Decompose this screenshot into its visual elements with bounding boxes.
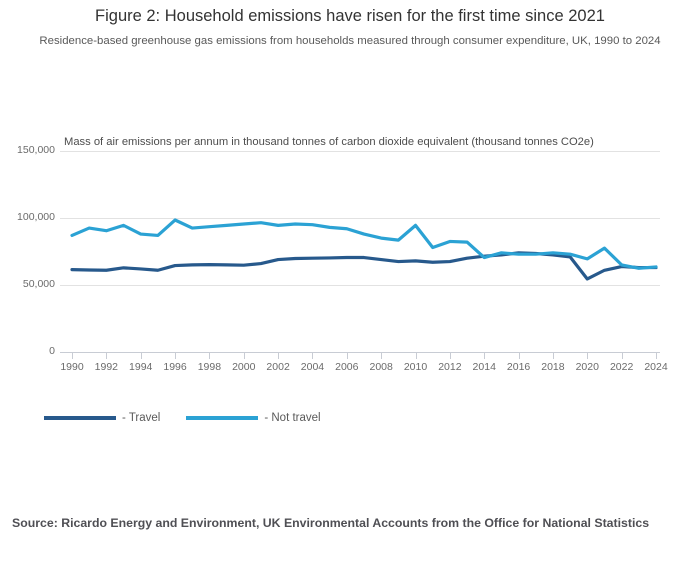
x-tick-mark [175, 352, 176, 359]
x-tick-mark [519, 352, 520, 359]
series-line [72, 220, 656, 268]
x-tick-mark [312, 352, 313, 359]
x-tick-mark [106, 352, 107, 359]
legend-swatch-icon [186, 416, 258, 420]
x-tick-mark [450, 352, 451, 359]
x-tick-mark [381, 352, 382, 359]
x-tick-label: 2024 [636, 361, 676, 373]
x-tick-mark [278, 352, 279, 359]
x-tick-mark [553, 352, 554, 359]
chart-legend: - Travel- Not travel [44, 406, 321, 430]
x-tick-mark [244, 352, 245, 359]
source-note: Source: Ricardo Energy and Environment, … [12, 512, 688, 534]
figure-container: Figure 2: Household emissions have risen… [0, 0, 700, 574]
legend-item-label: - Travel [122, 412, 160, 424]
x-tick-mark [484, 352, 485, 359]
x-tick-mark [72, 352, 73, 359]
legend-item[interactable]: - Travel [44, 412, 160, 424]
x-tick-mark [416, 352, 417, 359]
x-tick-mark [141, 352, 142, 359]
legend-swatch-icon [44, 416, 116, 420]
x-tick-mark [587, 352, 588, 359]
x-tick-mark [209, 352, 210, 359]
x-tick-mark [347, 352, 348, 359]
legend-item[interactable]: - Not travel [186, 412, 320, 424]
x-axis-ticks: 1990199219941996199820002002200420062008… [0, 352, 700, 382]
plot-area: Mass of air emissions per annum in thous… [0, 0, 700, 440]
series-line [72, 253, 656, 279]
x-tick-mark [622, 352, 623, 359]
x-tick-mark [656, 352, 657, 359]
legend-item-label: - Not travel [264, 412, 320, 424]
